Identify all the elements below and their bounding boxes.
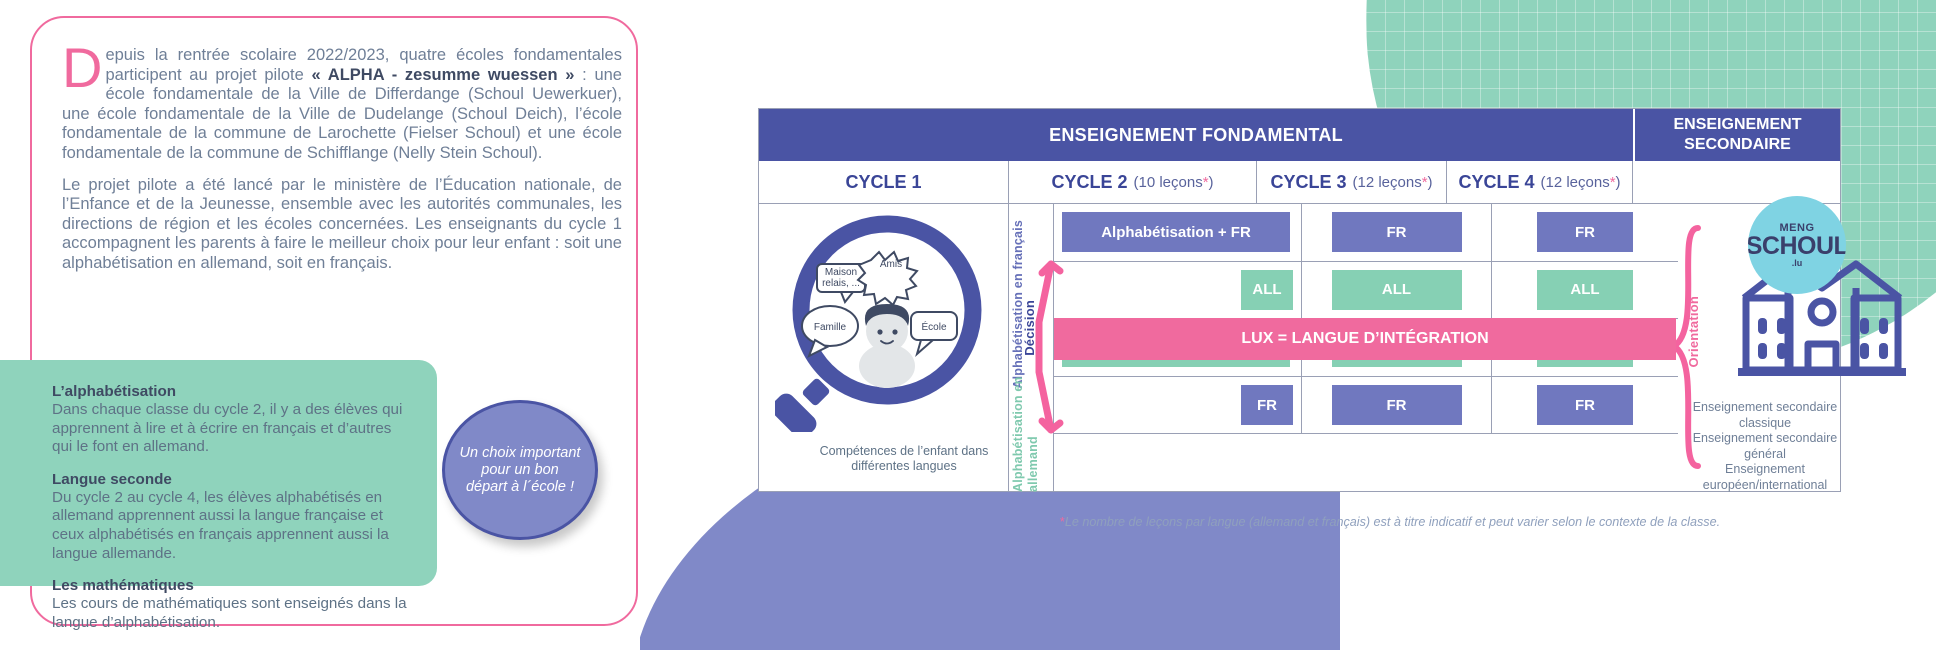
cycle-2-lessons: (10 leçons*) xyxy=(1133,174,1213,191)
grid-row: ALL ALL ALL xyxy=(1054,262,1678,320)
meng-schoul-logo[interactable]: MENG SCHOUL .lu xyxy=(1748,196,1846,294)
footnote-text: Le nombre de leçons par langue (allemand… xyxy=(1065,515,1720,529)
chip-all: ALL xyxy=(1241,270,1293,310)
alphabetisation-allemand-label: Alphabétisation en allemand xyxy=(1011,364,1041,492)
secondary-education-types: Enseignement secondaire classique Enseig… xyxy=(1684,400,1846,493)
diagram-footnote: *Le nombre de leçons par langue (alleman… xyxy=(940,515,1840,529)
background-purple-wave xyxy=(640,480,1340,650)
info-block-mathematiques: Les mathématiques Les cours de mathémati… xyxy=(52,576,411,632)
choice-badge-text: Un choix important pour un bon départ à … xyxy=(445,445,595,496)
grid-cell-cycle3: ALL xyxy=(1302,262,1492,319)
logo-lu-text: .lu xyxy=(1748,259,1846,268)
info-body-langue-seconde: Du cycle 2 au cycle 4, les élèves alphab… xyxy=(52,489,411,563)
secondary-education-column: Orientation xyxy=(1678,204,1840,492)
page-root: Depuis la rentrée scolaire 2022/2023, qu… xyxy=(0,0,1936,650)
cycle1-illustration-column: Maison relais, ... Amis Famille École Co… xyxy=(759,204,1009,492)
svg-text:Maison: Maison xyxy=(825,267,857,278)
green-info-box: L’alphabétisation Dans chaque classe du … xyxy=(0,360,437,586)
info-body-mathematiques: Les cours de mathématiques sont enseigné… xyxy=(52,595,411,632)
grid-cell-cycle3: FR xyxy=(1302,204,1492,261)
info-title-mathematiques: Les mathématiques xyxy=(52,576,411,595)
intro-text: Depuis la rentrée scolaire 2022/2023, qu… xyxy=(62,46,622,274)
chip-fr: FR xyxy=(1332,212,1462,252)
project-name: « ALPHA - zesumme wuessen » xyxy=(312,66,575,84)
cycle1-caption: Compétences de l’enfant dans différentes… xyxy=(809,444,999,474)
band-secondary: ENSEIGNEMENT SECONDAIRE xyxy=(1633,109,1840,161)
grid-row: Alphabétisation + FR FR FR xyxy=(1054,204,1678,262)
cycle-header-row: CYCLE 1 CYCLE 2 (10 leçons*) CYCLE 3 (12… xyxy=(759,161,1840,204)
chip-alphabetisation-fr: Alphabétisation + FR xyxy=(1062,212,1290,252)
svg-text:École: École xyxy=(921,320,946,333)
chip-all: ALL xyxy=(1537,270,1633,310)
grid-row: FR FR FR xyxy=(1054,377,1678,435)
svg-text:Famille: Famille xyxy=(814,322,847,333)
secondary-line-3: Enseignement européen/international xyxy=(1684,462,1846,493)
language-grid: Alphabétisation + FR FR FR ALL ALL xyxy=(1054,204,1678,492)
info-block-alphabetisation: L’alphabétisation Dans chaque classe du … xyxy=(52,382,411,457)
secondary-line-1: Enseignement secondaire classique xyxy=(1684,400,1846,431)
cycle-2-label: CYCLE 2 xyxy=(1051,172,1127,193)
cycle-3-lessons: (12 leçons*) xyxy=(1352,174,1432,191)
chip-fr: FR xyxy=(1241,385,1293,425)
grid-cell-cycle2: ALL xyxy=(1054,262,1302,319)
info-body-alphabetisation: Dans chaque classe du cycle 2, il y a de… xyxy=(52,401,411,457)
grid-cell-cycle3: FR xyxy=(1302,377,1492,434)
lux-integration-bar: LUX = LANGUE D’INTÉGRATION xyxy=(1054,318,1676,360)
cycle-1-label: CYCLE 1 xyxy=(845,172,921,193)
grid-cell-cycle4: FR xyxy=(1492,377,1678,434)
grid-cell-cycle4: ALL xyxy=(1492,262,1678,319)
chip-all: ALL xyxy=(1332,270,1462,310)
cycle-4-lessons: (12 leçons*) xyxy=(1540,174,1620,191)
cycle-header-1: CYCLE 1 xyxy=(759,161,1009,203)
cycle-header-3: CYCLE 3 (12 leçons*) xyxy=(1257,161,1447,203)
svg-text:Amis: Amis xyxy=(880,259,902,270)
orientation-label: Orientation xyxy=(1686,296,1701,368)
grid-cell-cycle4: FR xyxy=(1492,204,1678,261)
grid-cell-cycle2: Alphabétisation + FR xyxy=(1054,204,1302,261)
chip-fr: FR xyxy=(1537,212,1633,252)
secondary-line-2: Enseignement secondaire général xyxy=(1684,431,1846,462)
education-pathway-diagram: ENSEIGNEMENT FONDAMENTAL ENSEIGNEMENT SE… xyxy=(758,108,1841,492)
diagram-body: Maison relais, ... Amis Famille École Co… xyxy=(759,204,1840,492)
drop-cap: D xyxy=(62,46,105,90)
intro-paragraph-2: Le projet pilote a été lancé par le mini… xyxy=(62,176,622,274)
logo-schoul-text: SCHOUL xyxy=(1748,234,1846,259)
chip-fr: FR xyxy=(1537,385,1633,425)
intro-paragraph-1: Depuis la rentrée scolaire 2022/2023, qu… xyxy=(62,46,622,164)
grid-cell-cycle2: FR xyxy=(1054,377,1302,434)
cycle-4-label: CYCLE 4 xyxy=(1458,172,1534,193)
cycle-3-label: CYCLE 3 xyxy=(1270,172,1346,193)
info-block-langue-seconde: Langue seconde Du cycle 2 au cycle 4, le… xyxy=(52,470,411,563)
svg-text:relais, ...: relais, ... xyxy=(822,278,860,289)
info-title-alphabetisation: L’alphabétisation xyxy=(52,382,411,401)
magnifier-icon: Maison relais, ... Amis Famille École xyxy=(775,214,993,432)
decision-column: Décision Alphabétisation en français Alp… xyxy=(1009,204,1054,492)
band-fundamental: ENSEIGNEMENT FONDAMENTAL xyxy=(759,109,1633,161)
cycle-header-4: CYCLE 4 (12 leçons*) xyxy=(1447,161,1633,203)
choice-badge: Un choix important pour un bon départ à … xyxy=(442,400,598,540)
diagram-header-band: ENSEIGNEMENT FONDAMENTAL ENSEIGNEMENT SE… xyxy=(759,109,1840,161)
chip-fr: FR xyxy=(1332,385,1462,425)
cycle-header-2: CYCLE 2 (10 leçons*) xyxy=(1009,161,1257,203)
info-title-langue-seconde: Langue seconde xyxy=(52,470,411,489)
